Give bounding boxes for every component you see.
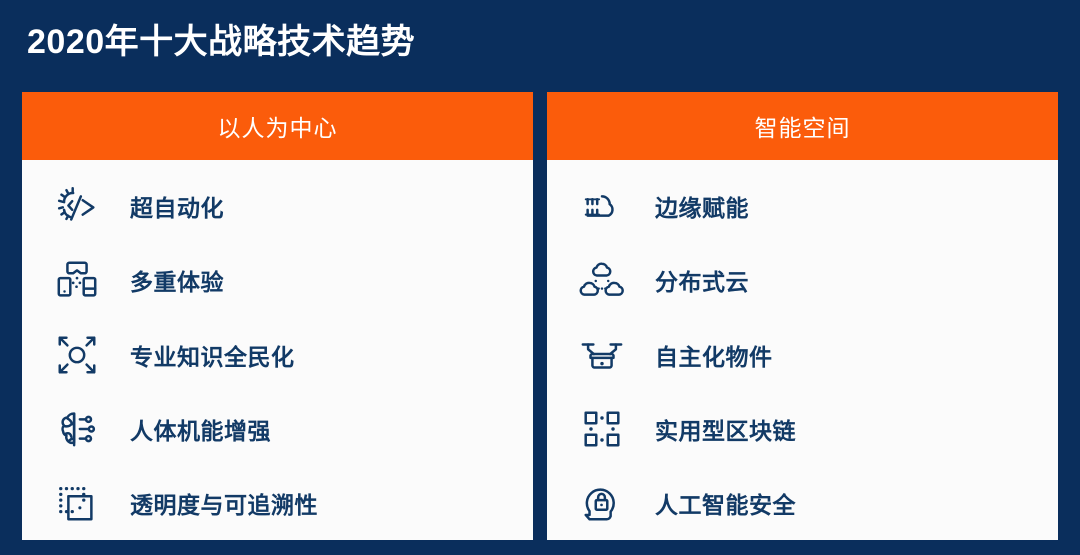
trend-row-edge-empowerment[interactable]: 边缘赋能	[547, 169, 1058, 243]
trend-row-ai-security[interactable]: 人工智能安全	[547, 466, 1058, 540]
trend-row-democratization[interactable]: 专业知识全民化	[22, 317, 533, 391]
trend-label: 人工智能安全	[655, 486, 796, 520]
column-body-smart-spaces: 边缘赋能 分布式云	[547, 160, 1058, 540]
expand-arrows-circle-icon	[48, 329, 106, 381]
column-human-centric: 以人为中心 超自动化	[22, 92, 533, 540]
column-body-human-centric: 超自动化 多重体验	[22, 160, 533, 540]
trend-label: 透明度与可追溯性	[130, 486, 318, 520]
trend-label: 边缘赋能	[655, 189, 749, 223]
distributed-clouds-icon	[573, 254, 631, 306]
trend-label: 多重体验	[130, 263, 224, 297]
trend-row-autonomous-things[interactable]: 自主化物件	[547, 317, 1058, 391]
head-lock-icon	[573, 477, 631, 529]
trend-row-human-augmentation[interactable]: 人体机能增强	[22, 392, 533, 466]
page-title: 2020年十大战略技术趋势	[27, 20, 415, 64]
gear-code-icon	[48, 180, 106, 232]
trend-row-transparency[interactable]: 透明度与可追溯性	[22, 466, 533, 540]
trend-row-hyperautomation[interactable]: 超自动化	[22, 169, 533, 243]
column-header-human-centric: 以人为中心	[22, 92, 533, 160]
trend-columns: 以人为中心 超自动化	[22, 92, 1058, 540]
trend-label: 专业知识全民化	[130, 338, 295, 372]
blockchain-blocks-icon	[573, 403, 631, 455]
binary-cloud-icon	[573, 180, 631, 232]
trend-label: 自主化物件	[655, 338, 773, 372]
trend-row-multiexperience[interactable]: 多重体验	[22, 243, 533, 317]
dotted-square-trace-icon	[48, 477, 106, 529]
trend-label: 实用型区块链	[655, 412, 796, 446]
column-smart-spaces: 智能空间 边缘赋能	[547, 92, 1058, 540]
trend-label: 人体机能增强	[130, 412, 271, 446]
drone-icon	[573, 329, 631, 381]
trend-row-practical-blockchain[interactable]: 实用型区块链	[547, 392, 1058, 466]
trend-label: 超自动化	[130, 189, 224, 223]
multidevice-vr-icon	[48, 254, 106, 306]
trend-row-distributed-cloud[interactable]: 分布式云	[547, 243, 1058, 317]
column-header-smart-spaces: 智能空间	[547, 92, 1058, 160]
brain-circuit-icon	[48, 403, 106, 455]
trend-label: 分布式云	[655, 263, 749, 297]
